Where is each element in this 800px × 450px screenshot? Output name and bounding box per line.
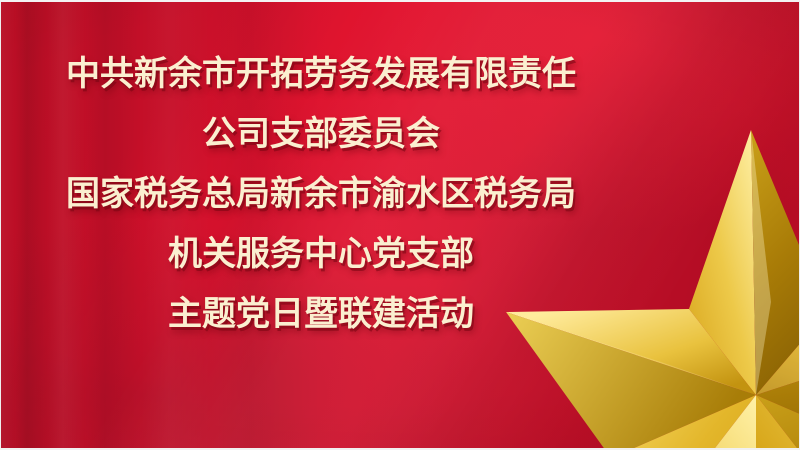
headline-line-4: 机关服务中心党支部 [1, 224, 641, 284]
event-banner: 中共新余市开拓劳务发展有限责任 公司支部委员会 国家税务总局新余市渝水区税务局 … [0, 0, 800, 450]
headline-line-5: 主题党日暨联建活动 [1, 284, 641, 344]
headline-line-1: 中共新余市开拓劳务发展有限责任 [1, 44, 641, 104]
headline-line-3: 国家税务总局新余市渝水区税务局 [1, 164, 641, 224]
headline-line-2: 公司支部委员会 [1, 104, 641, 164]
headline-block: 中共新余市开拓劳务发展有限责任 公司支部委员会 国家税务总局新余市渝水区税务局 … [1, 44, 641, 344]
